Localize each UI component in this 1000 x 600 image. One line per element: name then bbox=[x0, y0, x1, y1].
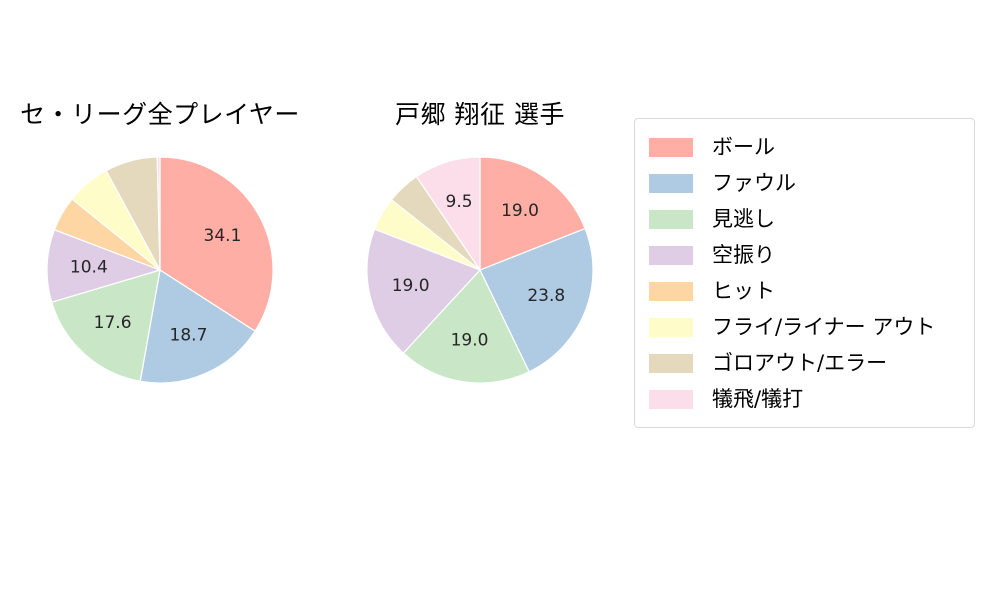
pie-slice-label: 10.4 bbox=[70, 257, 108, 277]
legend-item-sacrifice[interactable]: 犠飛/犠打 bbox=[649, 381, 962, 417]
legend-swatch-called-strike bbox=[649, 210, 693, 229]
pie-slice-label: 23.8 bbox=[527, 286, 565, 306]
legend-swatch-ground-out-error bbox=[649, 354, 693, 373]
legend-label-ball: ボール bbox=[712, 137, 775, 158]
legend-swatch-fly-liner-out bbox=[649, 318, 693, 337]
legend-swatch-foul bbox=[649, 174, 693, 193]
chart-title-player: 戸郷 翔征 選手 bbox=[330, 100, 630, 130]
legend-item-called-strike[interactable]: 見逃し bbox=[649, 201, 962, 237]
legend-swatch-swing-miss bbox=[649, 246, 693, 265]
legend-swatch-ball bbox=[649, 138, 693, 157]
legend-swatch-sacrifice bbox=[649, 390, 693, 409]
pie-slice-label: 19.0 bbox=[451, 330, 489, 350]
legend-label-hit: ヒット bbox=[712, 281, 775, 302]
legend-label-sacrifice: 犠飛/犠打 bbox=[712, 389, 803, 410]
legend-label-foul: ファウル bbox=[712, 173, 796, 194]
legend-item-hit[interactable]: ヒット bbox=[649, 273, 962, 309]
legend-label-ground-out-error: ゴロアウト/エラー bbox=[712, 353, 887, 374]
chart-legend: ボール ファウル 見逃し 空振り ヒット フライ/ライナー アウト ゴロアウト/… bbox=[634, 118, 975, 428]
pie-right-wrap: 19.023.819.019.09.5 bbox=[330, 145, 630, 395]
legend-item-fly-liner-out[interactable]: フライ/ライナー アウト bbox=[649, 309, 962, 345]
pie-slice-label: 34.1 bbox=[204, 226, 242, 246]
pie-slice-label: 18.7 bbox=[170, 325, 208, 345]
pie-slice-label: 17.6 bbox=[94, 313, 132, 333]
pie-slice-label: 9.5 bbox=[446, 192, 473, 212]
pie-slice-label: 19.0 bbox=[392, 276, 430, 296]
pie-left-wrap: 34.118.717.610.4 bbox=[0, 145, 320, 395]
chart-title-league: セ・リーグ全プレイヤー bbox=[0, 100, 320, 130]
legend-item-swing-miss[interactable]: 空振り bbox=[649, 237, 962, 273]
chart-panel-league: セ・リーグ全プレイヤー 34.118.717.610.4 bbox=[0, 100, 320, 430]
legend-item-ball[interactable]: ボール bbox=[649, 129, 962, 165]
pie-left: 34.118.717.610.4 bbox=[35, 145, 285, 395]
pie-chart-figure: セ・リーグ全プレイヤー 34.118.717.610.4 戸郷 翔征 選手 19… bbox=[0, 0, 1000, 600]
pie-slice-label: 19.0 bbox=[501, 201, 539, 221]
pie-right: 19.023.819.019.09.5 bbox=[355, 145, 605, 395]
legend-swatch-hit bbox=[649, 282, 693, 301]
chart-panel-player: 戸郷 翔征 選手 19.023.819.019.09.5 bbox=[330, 100, 630, 430]
legend-label-called-strike: 見逃し bbox=[712, 209, 775, 230]
legend-label-fly-liner-out: フライ/ライナー アウト bbox=[712, 317, 935, 338]
legend-item-foul[interactable]: ファウル bbox=[649, 165, 962, 201]
legend-item-ground-out-error[interactable]: ゴロアウト/エラー bbox=[649, 345, 962, 381]
legend-label-swing-miss: 空振り bbox=[712, 245, 775, 266]
